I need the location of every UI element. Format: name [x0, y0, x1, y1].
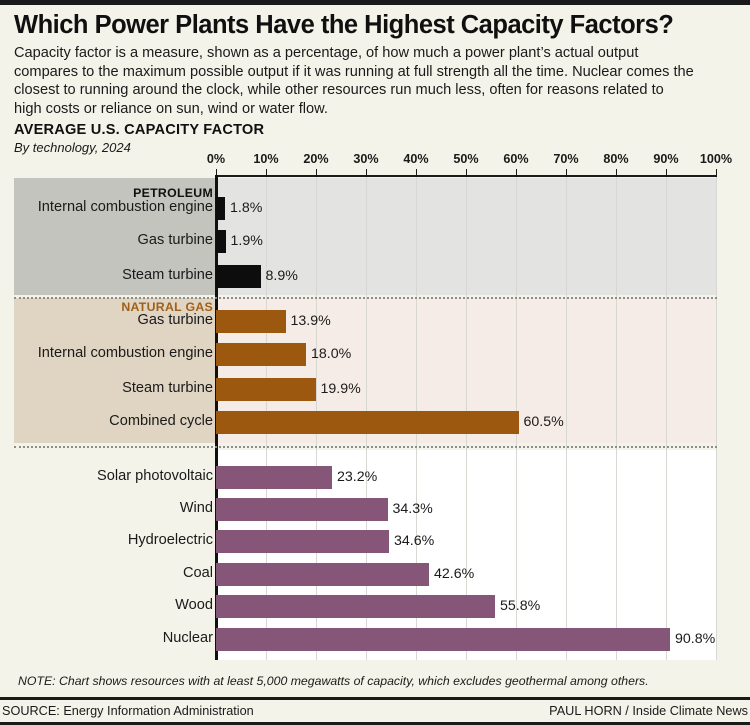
- bar-gas-1: [216, 343, 306, 366]
- top-rule: [0, 0, 750, 5]
- bar-other-4: [216, 595, 495, 618]
- category-label-gas-0: Gas turbine: [3, 312, 213, 328]
- bar-gas-2: [216, 378, 316, 401]
- axis-label-0: 0%: [207, 152, 225, 166]
- axis-label-30: 30%: [353, 152, 378, 166]
- group-label-petroleum: PETROLEUM: [3, 186, 213, 200]
- category-label-other-3: Coal: [3, 565, 213, 581]
- axis-tick-80: [616, 169, 617, 176]
- axis-tick-90: [666, 169, 667, 176]
- bar-other-1: [216, 498, 388, 521]
- value-label-gas-2: 19.9%: [321, 381, 361, 397]
- deck-paragraph: Capacity factor is a measure, shown as a…: [14, 44, 694, 118]
- axis-tick-10: [266, 169, 267, 176]
- axis-tick-50: [466, 169, 467, 176]
- chart-title: AVERAGE U.S. CAPACITY FACTOR: [14, 122, 264, 138]
- category-label-other-5: Nuclear: [3, 630, 213, 646]
- bar-other-2: [216, 530, 389, 553]
- bar-other-0: [216, 466, 332, 489]
- value-label-petroleum-2: 8.9%: [266, 268, 298, 284]
- gridline-70: [566, 177, 567, 660]
- gridline-10: [266, 177, 267, 660]
- axis-label-50: 50%: [453, 152, 478, 166]
- gridline-100: [716, 177, 717, 660]
- axis-tick-60: [516, 169, 517, 176]
- value-label-other-5: 90.8%: [675, 631, 715, 647]
- gridline-40: [416, 177, 417, 660]
- bar-other-5: [216, 628, 670, 651]
- value-label-petroleum-1: 1.9%: [231, 233, 263, 249]
- infographic-page: Which Power Plants Have the Highest Capa…: [0, 0, 750, 725]
- bar-petroleum-2: [216, 265, 261, 288]
- bar-other-3: [216, 563, 429, 586]
- category-label-gas-3: Combined cycle: [3, 413, 213, 429]
- axis-label-90: 90%: [653, 152, 678, 166]
- category-label-other-0: Solar photovoltaic: [3, 468, 213, 484]
- axis-tick-20: [316, 169, 317, 176]
- axis-label-80: 80%: [603, 152, 628, 166]
- gridline-60: [516, 177, 517, 660]
- category-label-gas-1: Internal combustion engine: [3, 345, 213, 361]
- group-band-plot-2: [216, 450, 717, 660]
- axis-tick-40: [416, 169, 417, 176]
- headline: Which Power Plants Have the Highest Capa…: [14, 10, 740, 40]
- gridline-90: [666, 177, 667, 660]
- value-label-gas-1: 18.0%: [311, 346, 351, 362]
- bar-gas-0: [216, 310, 286, 333]
- axis-top-line: [216, 175, 717, 177]
- axis-tick-70: [566, 169, 567, 176]
- source-credit: SOURCE: Energy Information Administratio…: [2, 704, 254, 718]
- axis-tick-30: [366, 169, 367, 176]
- bar-petroleum-1: [216, 230, 226, 253]
- value-label-other-4: 55.8%: [500, 598, 540, 614]
- category-label-other-4: Wood: [3, 597, 213, 613]
- axis-label-10: 10%: [253, 152, 278, 166]
- axis-label-60: 60%: [503, 152, 528, 166]
- value-label-gas-0: 13.9%: [291, 313, 331, 329]
- group-band-left-1: [14, 298, 216, 443]
- group-label-gas: NATURAL GAS: [3, 300, 213, 314]
- gridline-80: [616, 177, 617, 660]
- gridline-50: [466, 177, 467, 660]
- value-label-other-3: 42.6%: [434, 566, 474, 582]
- axis-label-70: 70%: [553, 152, 578, 166]
- axis-tick-100: [716, 169, 717, 176]
- footer-rule: [0, 697, 750, 700]
- bar-petroleum-0: [216, 197, 225, 220]
- group-band-plot-1: [216, 298, 717, 443]
- bar-gas-3: [216, 411, 519, 434]
- value-label-other-0: 23.2%: [337, 469, 377, 485]
- axis-label-40: 40%: [403, 152, 428, 166]
- group-band-plot-0: [216, 178, 717, 295]
- chart-note: NOTE: Chart shows resources with at leas…: [18, 674, 732, 688]
- category-label-other-2: Hydroelectric: [3, 532, 213, 548]
- value-label-petroleum-0: 1.8%: [230, 200, 262, 216]
- axis-label-20: 20%: [303, 152, 328, 166]
- category-label-gas-2: Steam turbine: [3, 380, 213, 396]
- category-label-petroleum-0: Internal combustion engine: [3, 199, 213, 215]
- gridline-30: [366, 177, 367, 660]
- value-label-other-1: 34.3%: [393, 501, 433, 517]
- value-label-other-2: 34.6%: [394, 533, 434, 549]
- group-separator-0: [14, 297, 717, 299]
- axis-tick-0: [216, 169, 217, 176]
- gridline-20: [316, 177, 317, 660]
- author-credit: PAUL HORN / Inside Climate News: [549, 704, 748, 718]
- category-label-petroleum-2: Steam turbine: [3, 267, 213, 283]
- value-label-gas-3: 60.5%: [524, 414, 564, 430]
- chart-subtitle: By technology, 2024: [14, 140, 131, 155]
- category-label-other-1: Wind: [3, 500, 213, 516]
- axis-label-100: 100%: [700, 152, 732, 166]
- category-label-petroleum-1: Gas turbine: [3, 232, 213, 248]
- group-band-left-0: [14, 178, 216, 295]
- group-separator-1: [14, 446, 717, 448]
- y-axis-line: [215, 175, 218, 660]
